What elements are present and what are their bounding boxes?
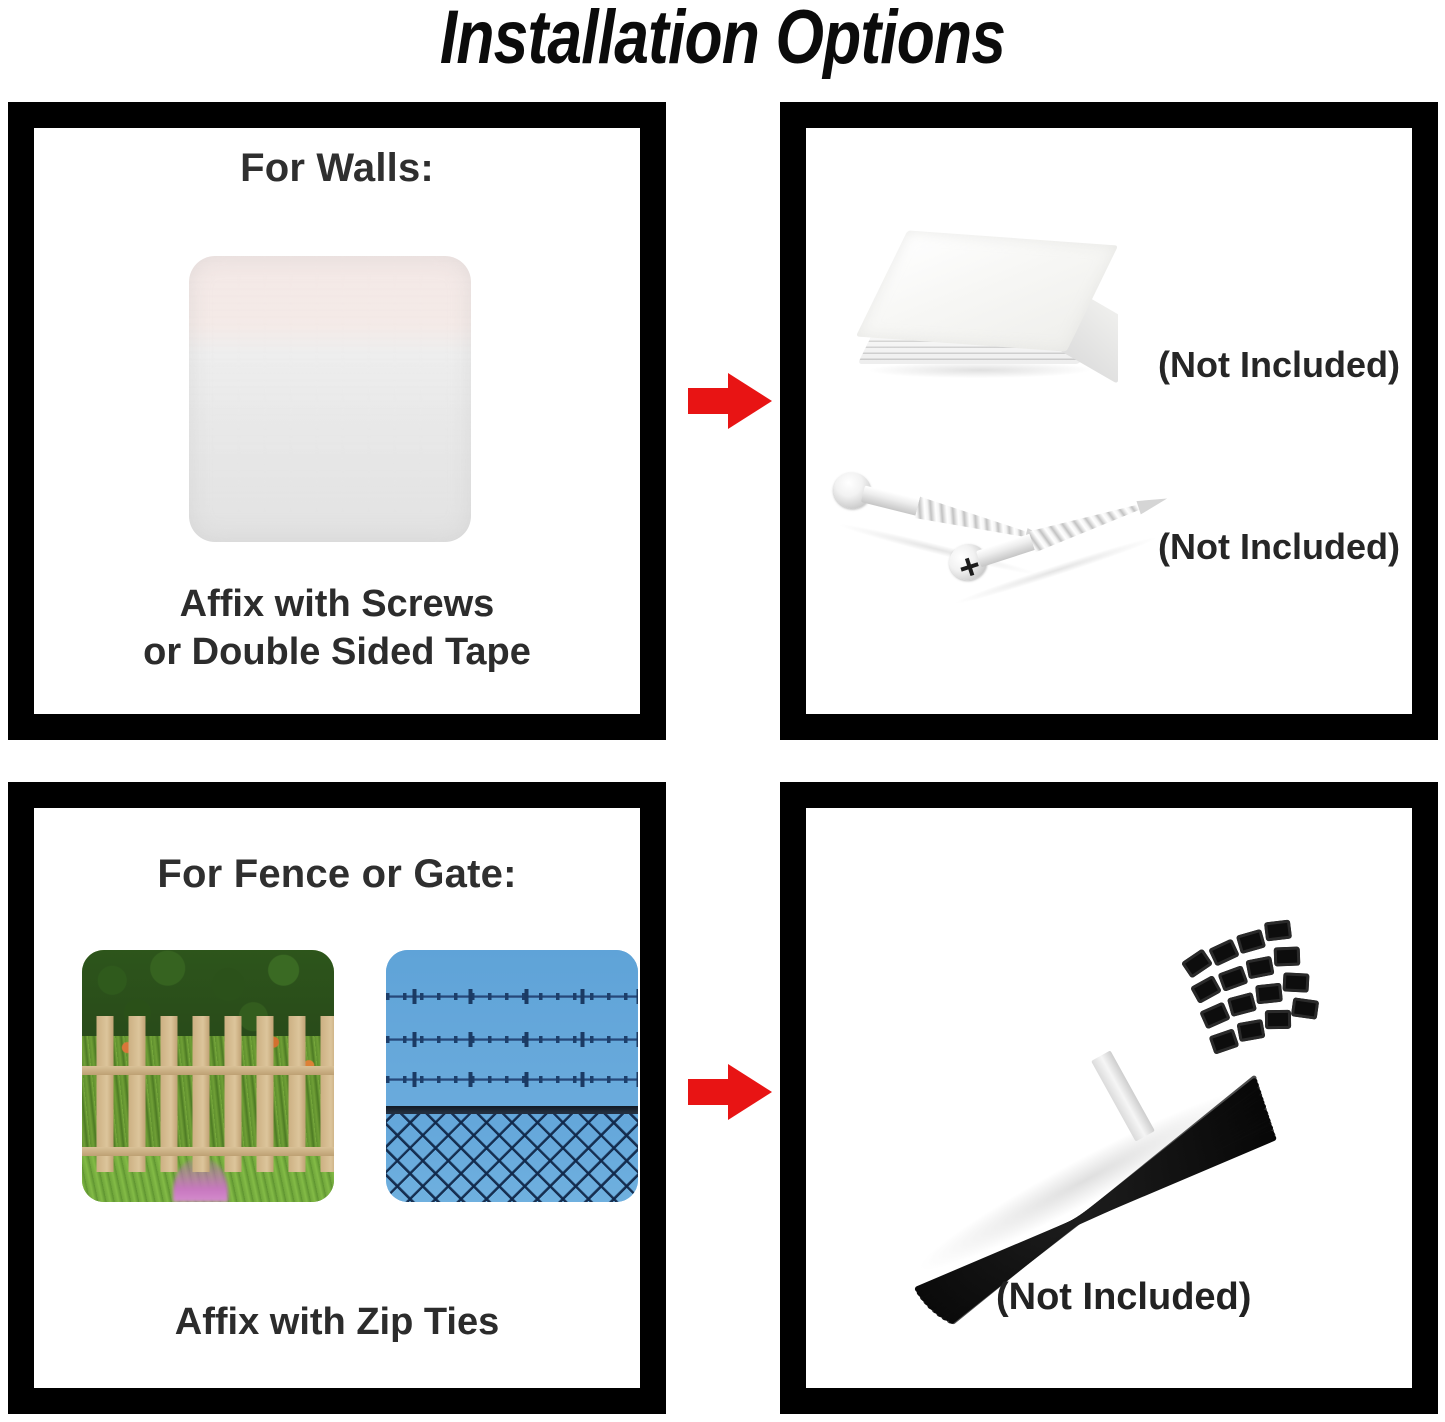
screw-tip xyxy=(1136,492,1169,515)
panel-for-walls-caption-line1: Affix with Screws xyxy=(34,580,640,629)
white-brick-wall-swatch-image xyxy=(189,256,471,542)
zip-tie-head xyxy=(1199,1002,1230,1030)
phillips-cross-icon xyxy=(958,556,981,579)
tape-not-included-label: (Not Included) xyxy=(1158,344,1400,386)
zip-tie-head xyxy=(1218,965,1249,992)
panel-for-fence-caption: Affix with Zip Ties xyxy=(34,1298,640,1347)
zip-tie-head xyxy=(1190,975,1222,1004)
arrow-head xyxy=(728,1064,772,1120)
panel-zip-ties-inner: (Not Included) xyxy=(806,808,1412,1388)
zipties-not-included-label: (Not Included) xyxy=(996,1276,1251,1319)
barbed-wire-3 xyxy=(386,1076,638,1083)
zip-tie-head xyxy=(1283,972,1310,992)
zip-tie-head xyxy=(1265,1010,1291,1029)
chain-link-mesh xyxy=(386,1114,638,1202)
tape-stack-shadow xyxy=(866,362,1094,378)
screws-not-included-label: (Not Included) xyxy=(1158,526,1400,568)
wooden-picket-fence-image xyxy=(82,950,334,1202)
panel-wall-hardware-inner: (Not Included) (Not Included) xyxy=(806,128,1412,714)
zip-tie-head xyxy=(1264,919,1292,941)
panel-for-walls-caption-line2: or Double Sided Tape xyxy=(34,628,640,677)
zip-tie-head xyxy=(1291,997,1319,1019)
bundle-band xyxy=(1091,1050,1155,1141)
zip-tie-head xyxy=(1255,983,1283,1005)
double-sided-tape-stack-image xyxy=(852,238,1110,390)
black-zip-tie-bundle-image xyxy=(866,908,1336,1308)
panel-for-walls: For Walls: Affix with Screws or Double S… xyxy=(8,102,666,740)
red-right-arrow-icon-bottom xyxy=(688,1064,772,1120)
zip-tie-head xyxy=(1274,947,1301,967)
panel-for-walls-inner: For Walls: Affix with Screws or Double S… xyxy=(34,128,640,714)
zip-tie-head xyxy=(1237,1019,1266,1042)
panel-for-fence-or-gate: For Fence or Gate: Affix with Zip Tie xyxy=(8,782,666,1414)
installation-options-infographic: Installation Options For Walls: Affix wi… xyxy=(0,0,1445,1422)
fence-rail-top xyxy=(82,1066,334,1075)
barbed-wire-1 xyxy=(386,993,638,1000)
zip-tie-head xyxy=(1181,948,1213,978)
page-title: Installation Options xyxy=(130,0,1315,81)
sky-layer xyxy=(386,950,638,1111)
zip-tie-head xyxy=(1208,938,1240,966)
panel-for-fence-heading: For Fence or Gate: xyxy=(34,852,640,897)
bundle-shadow xyxy=(908,1071,1264,1288)
panel-for-fence-or-gate-inner: For Fence or Gate: Affix with Zip Tie xyxy=(34,808,640,1388)
panel-zip-ties: (Not Included) xyxy=(780,782,1438,1414)
chain-link-fence-image xyxy=(386,950,638,1202)
zip-tie-head xyxy=(1236,929,1266,954)
zip-tie-head xyxy=(1227,992,1257,1017)
arrow-head xyxy=(728,373,772,429)
zip-tie-head xyxy=(1209,1028,1240,1054)
panel-wall-hardware: (Not Included) (Not Included) xyxy=(780,102,1438,740)
panel-for-walls-heading: For Walls: xyxy=(34,146,640,191)
red-right-arrow-icon-top xyxy=(688,373,772,429)
zip-tie-head xyxy=(1245,956,1274,980)
screw-shank xyxy=(861,485,925,516)
fence-rail-bottom xyxy=(82,1147,334,1156)
barbed-wire-2 xyxy=(386,1036,638,1043)
